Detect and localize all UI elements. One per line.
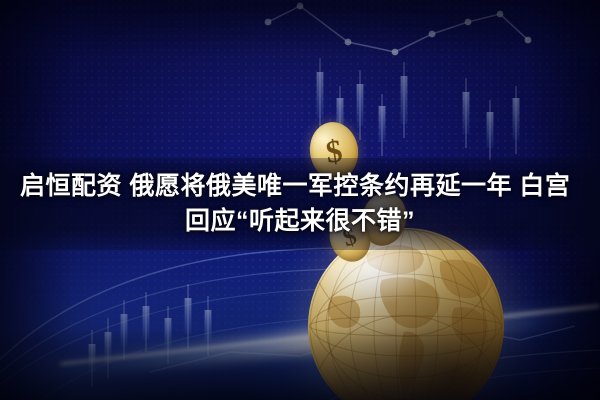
headline-block: 启恒配资 俄愿将俄美唯一军控条约再延一年 白宫 回应“听起来很不错” xyxy=(0,158,600,250)
news-banner-image: $ $ $ 启恒配资 俄愿将俄美唯一军控条约再延一年 白宫 回应“听起来很不错” xyxy=(0,0,600,400)
headline-line-2: 回应“听起来很不错” xyxy=(185,205,415,238)
headline-line-1: 启恒配资 俄愿将俄美唯一军控条约再延一年 白宫 xyxy=(20,170,570,203)
